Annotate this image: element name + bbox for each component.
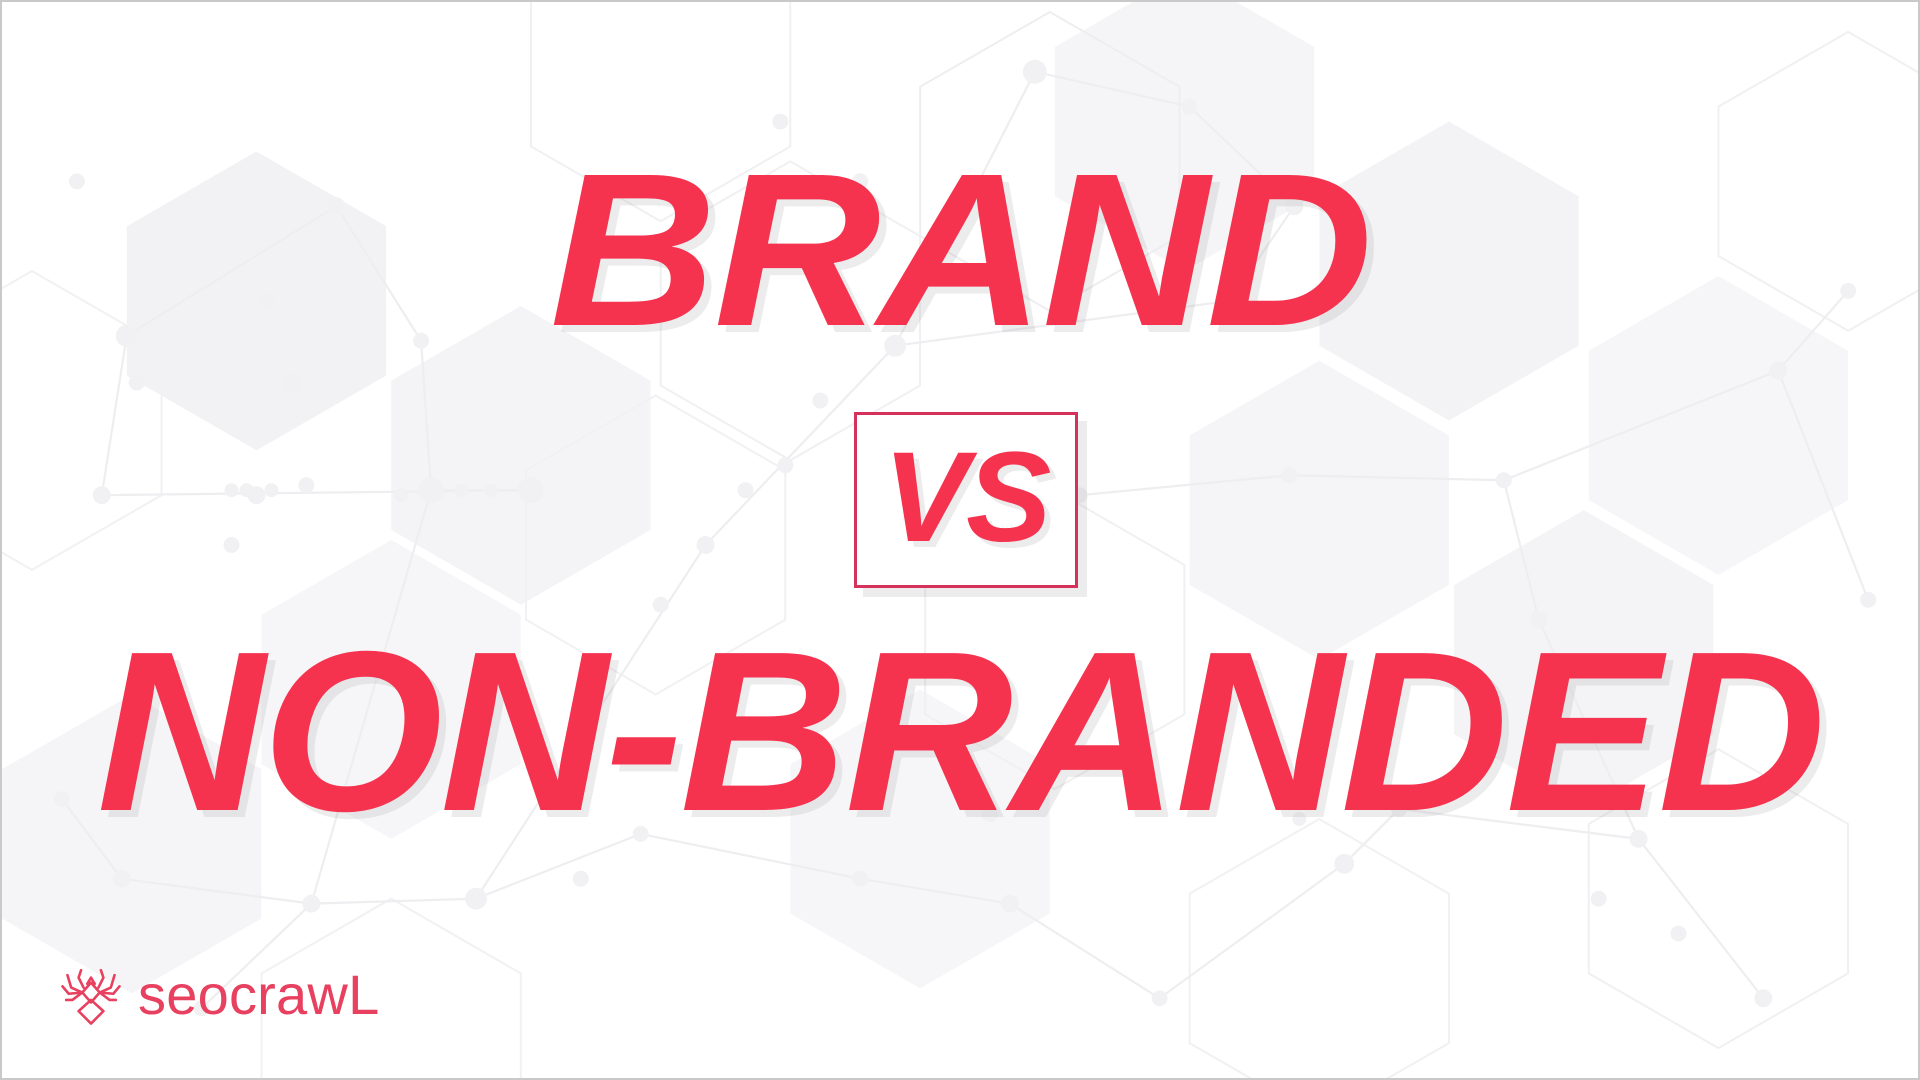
poster-canvas: BRAND VS NON-BRANDED (0, 0, 1920, 1080)
logo-wordmark: seocrawL (138, 967, 379, 1023)
vs-badge: VS (854, 412, 1078, 588)
seocrawl-logo[interactable]: seocrawL (60, 964, 379, 1026)
vs-badge-label: VS (883, 434, 1049, 562)
spider-icon (60, 964, 122, 1026)
headline-non-branded: NON-BRANDED (0, 618, 1920, 846)
headline-brand: BRAND (0, 142, 1920, 360)
headline-stack: BRAND VS NON-BRANDED (2, 2, 1918, 1078)
